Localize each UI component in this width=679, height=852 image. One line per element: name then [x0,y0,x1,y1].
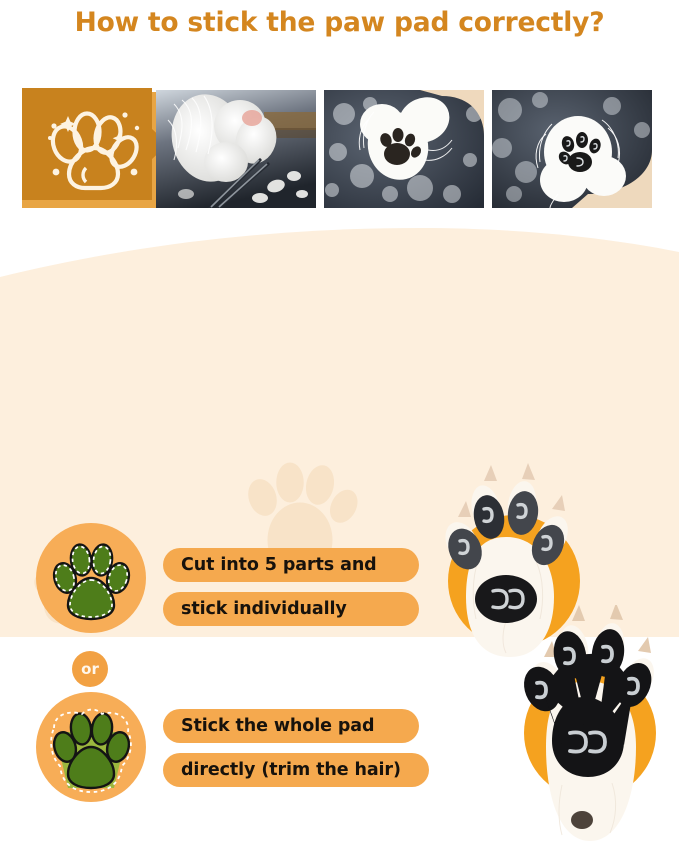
option-whole-pad-line-2: directly (trim the hair) [163,753,429,787]
infographic-root: How to stick the paw pad correctly? [0,0,679,637]
pill-text: stick individually [181,599,347,619]
or-separator-badge: or [72,651,108,687]
pill-text: Cut into 5 parts and [181,555,377,575]
photo-trim-hair [156,90,316,208]
paw-sparkle-icon [22,88,152,200]
option-whole-pad-line-1: Stick the whole pad [163,709,419,743]
option-cut-into-parts-icon [36,523,146,633]
product-icon-card [22,88,152,200]
photo-paw-whole-pad [512,605,679,852]
option-whole-pad-icon [36,692,146,802]
option-cut-into-parts-line-1: Cut into 5 parts and [163,548,419,582]
photo-clean-paw [324,90,484,208]
steps-photo-strip [0,0,679,215]
photo-pads-applied [492,90,652,208]
paw-whole-pad-icon [36,692,146,802]
pill-text: directly (trim the hair) [181,760,401,780]
paw-cut-5-parts-icon [36,523,146,633]
options-section: Cut into 5 parts and stick individually … [0,215,679,637]
pill-text: Stick the whole pad [181,716,374,736]
or-label: or [81,660,99,678]
option-cut-into-parts-line-2: stick individually [163,592,419,626]
